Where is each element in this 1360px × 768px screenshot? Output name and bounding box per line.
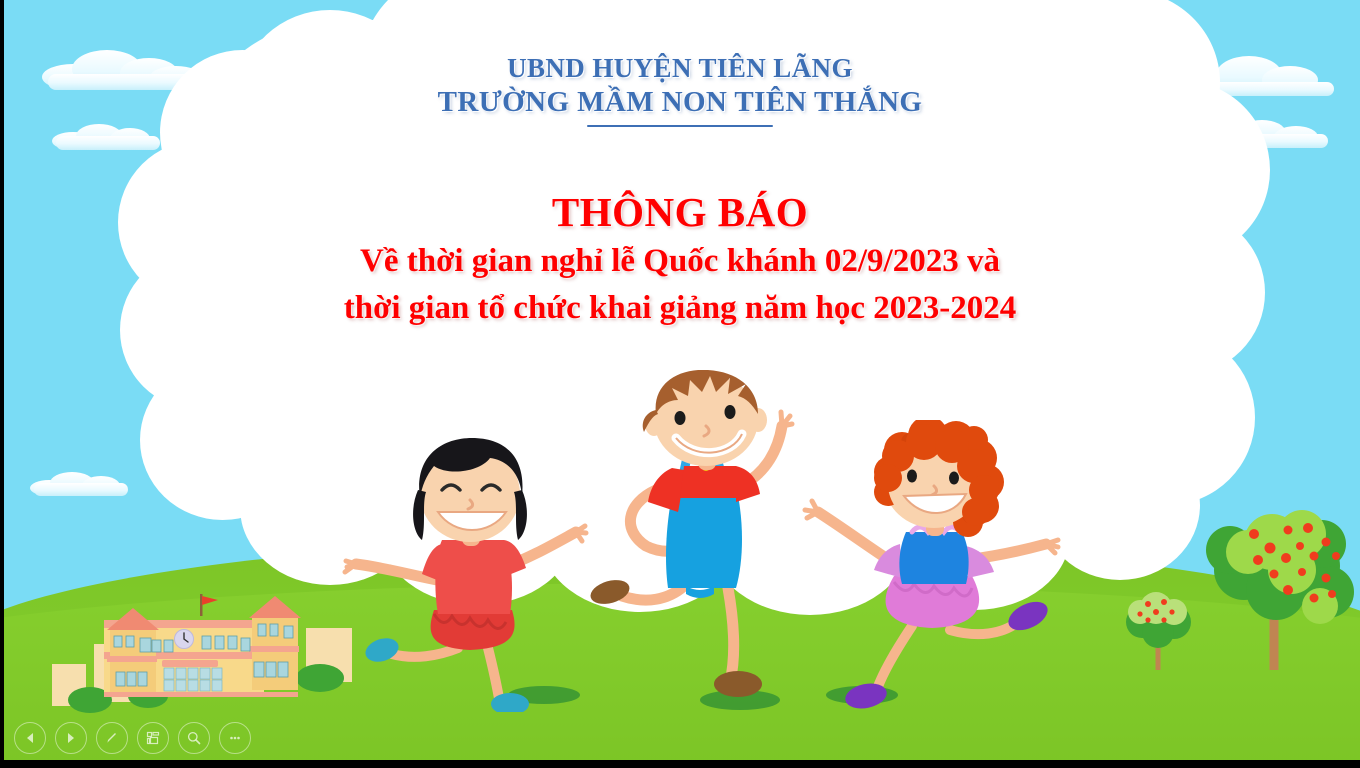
notice-heading: THÔNG BÁO (0, 186, 1360, 238)
previous-button[interactable] (14, 722, 46, 754)
child-girl-red-curly-hair (790, 420, 1070, 715)
slideshow-toolbar[interactable] (0, 716, 251, 760)
left-edge-strip (0, 0, 4, 768)
apple-tree-small (1116, 580, 1200, 675)
more-button[interactable] (219, 722, 251, 754)
pen-button[interactable] (96, 722, 128, 754)
notice-line2: thời gian tổ chức khai giảng năm học 202… (0, 285, 1360, 332)
triangle-left-icon (23, 731, 37, 745)
layout-button[interactable] (137, 722, 169, 754)
header-underline (587, 125, 773, 127)
triangle-right-icon (64, 731, 78, 745)
zoom-button[interactable] (178, 722, 210, 754)
organization-line1: UBND HUYỆN TIÊN LÃNG (0, 52, 1360, 84)
apple-tree-large (1196, 494, 1360, 675)
presentation-slide: UBND HUYỆN TIÊN LÃNG TRƯỜNG MẦM NON TIÊN… (0, 0, 1360, 768)
magnifier-icon (186, 730, 202, 746)
notice-block: THÔNG BÁO Về thời gian nghỉ lễ Quốc khán… (0, 186, 1360, 332)
organization-header: UBND HUYỆN TIÊN LÃNG TRƯỜNG MẦM NON TIÊN… (0, 52, 1360, 127)
pen-icon (104, 730, 120, 746)
ellipsis-icon (227, 730, 243, 746)
organization-line2: TRƯỜNG MẦM NON TIÊN THẮNG (0, 84, 1360, 120)
play-button[interactable] (55, 722, 87, 754)
notice-line1: Về thời gian nghỉ lễ Quốc khánh 02/9/202… (0, 238, 1360, 285)
bottom-black-bar (0, 760, 1360, 768)
layout-grid-icon (145, 730, 161, 746)
school-building (52, 586, 352, 711)
